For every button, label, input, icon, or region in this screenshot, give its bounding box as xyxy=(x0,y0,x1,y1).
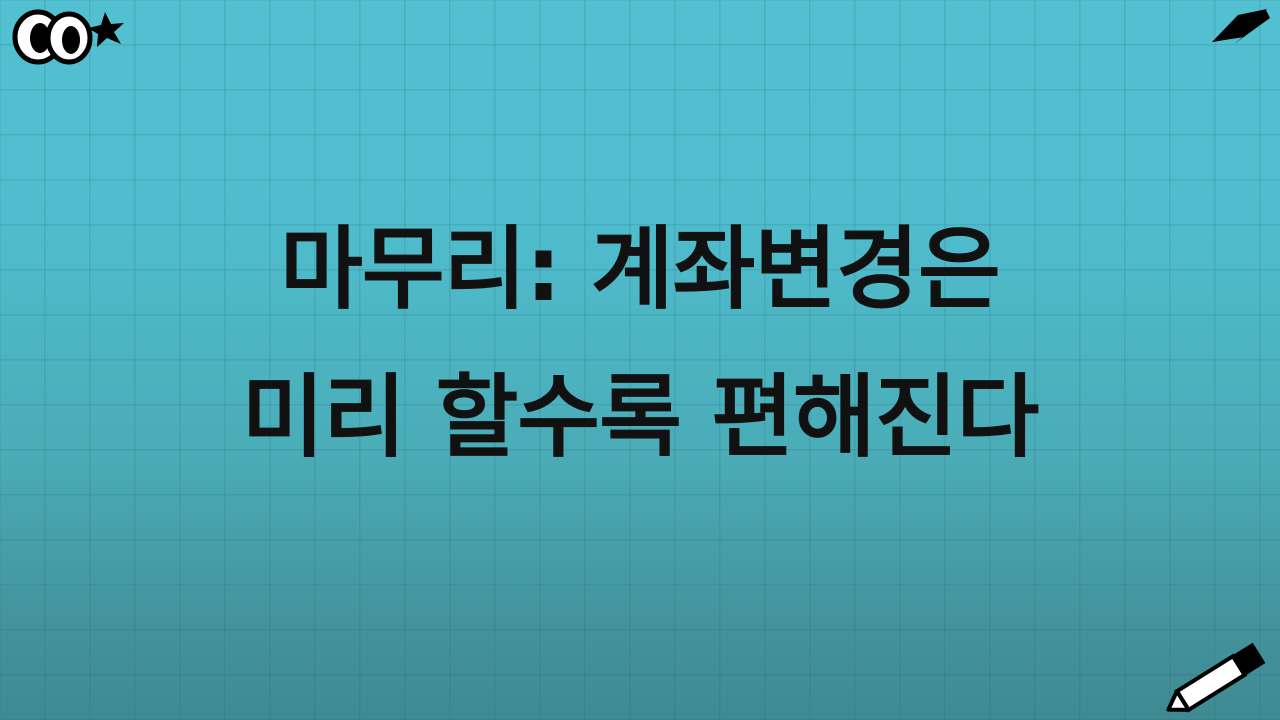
arrow-down-left-icon xyxy=(1204,4,1274,54)
pencil-icon xyxy=(1158,638,1276,718)
page-title: 마무리: 계좌변경은 미리 할수록 편해진다 xyxy=(0,196,1280,492)
page-title-line-2: 미리 할수록 편해진다 xyxy=(0,344,1280,492)
slide-canvas: 마무리: 계좌변경은 미리 할수록 편해진다 xyxy=(0,0,1280,720)
googly-eyes-star-logo xyxy=(8,4,128,66)
eye-right-icon xyxy=(48,14,90,62)
page-title-line-1: 마무리: 계좌변경은 xyxy=(0,196,1280,344)
star-icon xyxy=(88,12,124,47)
